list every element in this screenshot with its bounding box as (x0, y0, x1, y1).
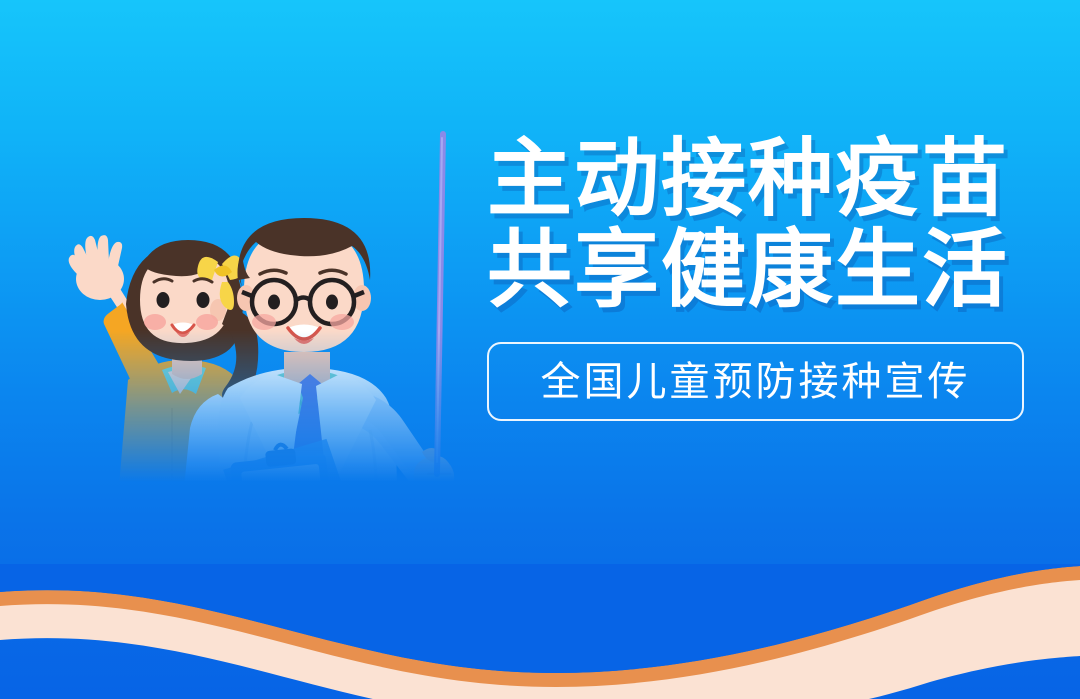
child-eye-right (197, 292, 210, 308)
doctor-eye-right (326, 295, 338, 310)
subtitle-badge: 全国儿童预防接种宣传 (487, 342, 1024, 421)
pointer-stick (437, 134, 443, 474)
doctor-and-child-illustration (22, 122, 482, 482)
headline-line-2: 共享健康生活 (487, 225, 1032, 316)
headline-block: 主动接种疫苗 共享健康生活 全国儿童预防接种宣传 (487, 134, 1032, 421)
child-eye-left (157, 292, 170, 308)
doctor-eye-left (268, 295, 280, 310)
bottom-wave-decoration (0, 564, 1080, 699)
illustration-group (69, 134, 455, 482)
vaccination-awareness-banner: 主动接种疫苗 共享健康生活 全国儿童预防接种宣传 (0, 0, 1080, 699)
subtitle-label: 全国儿童预防接种宣传 (541, 360, 971, 404)
headline-line-1: 主动接种疫苗 (487, 134, 1032, 225)
child-hand (69, 235, 124, 300)
